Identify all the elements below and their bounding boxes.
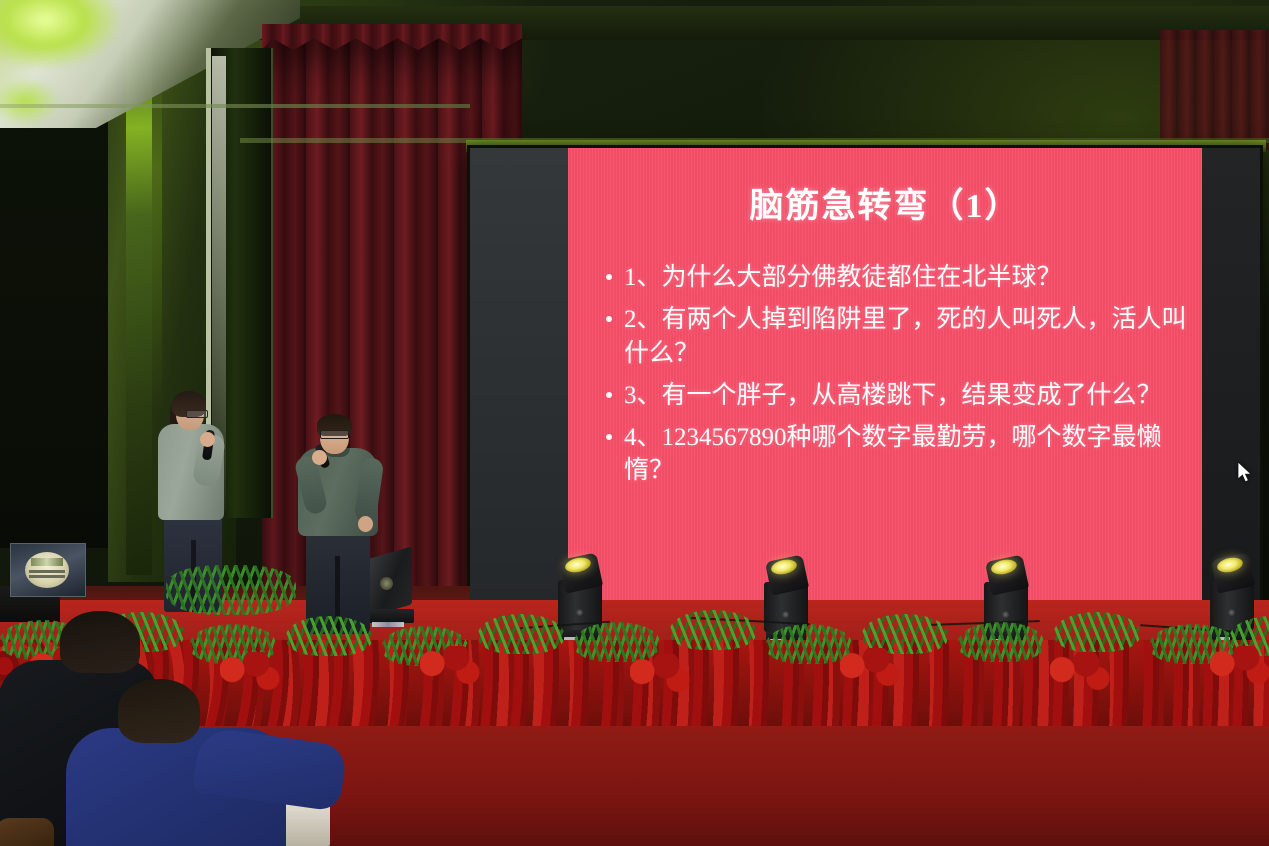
ceiling-green-light-glow-secondary [0, 78, 60, 126]
rose-cluster [220, 652, 280, 696]
stage-scene: 脑筋急转弯（1） 1、为什么大部分佛教徒都住在北半球？ 2、有两个人掉到陷阱里了… [0, 0, 1269, 846]
audience-member-2-head [118, 679, 200, 743]
rose-cluster [1050, 652, 1110, 696]
wall-pillar-highlight [126, 30, 152, 575]
audience-member-3-shoulder [0, 818, 54, 846]
rose-cluster [840, 648, 900, 692]
wedge-monitor-driver [380, 577, 393, 590]
lectern-sign-board [10, 543, 86, 597]
wall-crossbar [0, 104, 470, 108]
slide-title: 脑筋急转弯（1） [568, 148, 1202, 227]
presenter-left-glasses [186, 410, 208, 418]
led-screen-left-margin [470, 148, 568, 632]
audience-member-1-head [60, 611, 140, 673]
slide-bullet-2: 2、有两个人掉到陷阱里了，死的人叫死人，活人叫什么？ [604, 303, 1188, 370]
rose-cluster [630, 654, 690, 698]
rose-cluster [420, 646, 480, 690]
fern-sprig [670, 610, 756, 650]
wall-dark-left [0, 118, 118, 548]
slide-bullet-list: 1、为什么大部分佛教徒都住在北半球？ 2、有两个人掉到陷阱里了，死的人叫死人，活… [568, 261, 1202, 488]
sign-text-lines [29, 570, 65, 573]
slide-bullet-4: 4、1234567890种哪个数字最勤劳，哪个数字最懒惰？ [604, 421, 1188, 488]
slide-bullet-1: 1、为什么大部分佛教徒都住在北半球？ [604, 261, 1188, 294]
presentation-slide[interactable]: 脑筋急转弯（1） 1、为什么大部分佛教徒都住在北半球？ 2、有两个人掉到陷阱里了… [568, 148, 1202, 632]
presenter-left-hand [200, 432, 215, 447]
rose-cluster [1210, 646, 1269, 690]
fern-sprig [1054, 612, 1140, 652]
stage-curtain-right [1160, 30, 1269, 150]
fern-sprig [478, 614, 564, 654]
fern-sprig [958, 622, 1044, 662]
presenter-right-glasses [320, 430, 349, 439]
ceiling-green-light-glow [0, 0, 120, 68]
sign-logo-strip [31, 558, 63, 566]
slide-bullet-3: 3、有一个胖子，从高楼跳下，结果变成了什么？ [604, 379, 1188, 412]
presenter-right-hand-right [358, 516, 373, 532]
fern-sprig [286, 616, 372, 656]
presenter-right-hand-left [312, 450, 327, 465]
